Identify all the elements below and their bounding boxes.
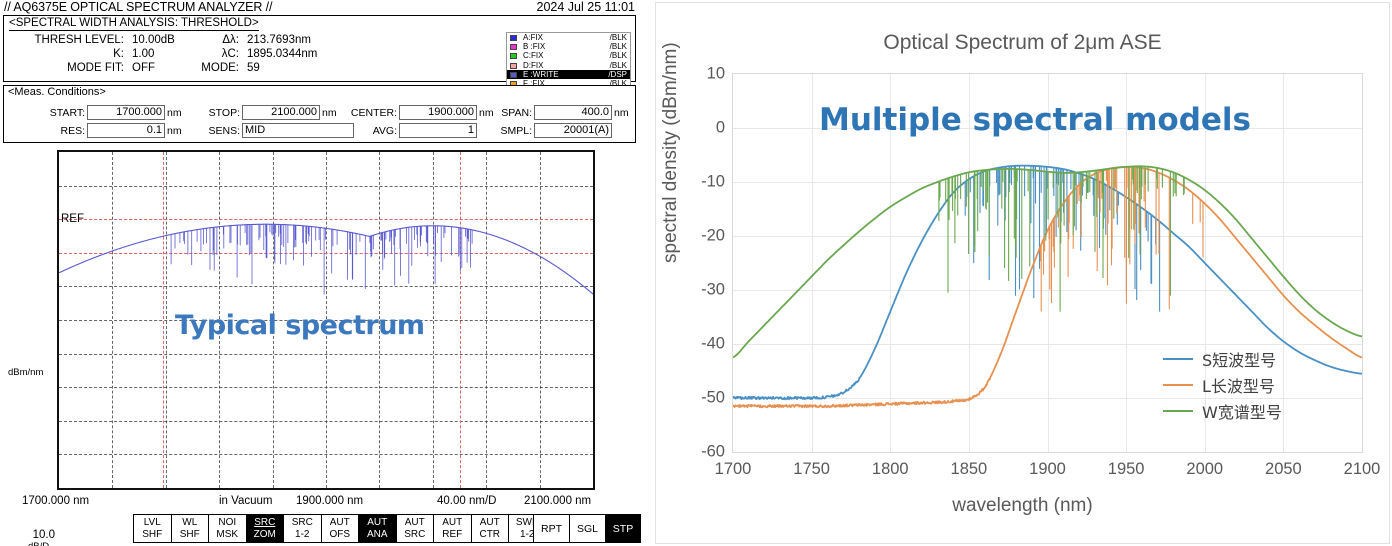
softkey-line2: SHF bbox=[180, 529, 200, 541]
x-vacuum-label: in Vacuum bbox=[219, 495, 272, 507]
softkey-line2: ZOM bbox=[254, 529, 276, 541]
meas-field-label: CENTER: bbox=[334, 107, 397, 119]
chart-legend-label: W宽谱型号 bbox=[1202, 399, 1282, 423]
trace-mode-label: /BLK bbox=[610, 42, 627, 51]
chart-legend-label: S短波型号 bbox=[1202, 347, 1276, 371]
trace-name-label: C:FIX bbox=[523, 51, 543, 60]
trace-color-swatch bbox=[510, 72, 517, 78]
trace-mode-label: /BLK bbox=[610, 61, 627, 70]
meas-field-value[interactable]: 1 bbox=[399, 123, 477, 138]
chart-legend-item[interactable]: W宽谱型号 bbox=[1163, 398, 1282, 424]
softkey-line1: SRC bbox=[292, 517, 313, 529]
chart-legend-swatch bbox=[1163, 358, 1193, 360]
sweep-key-rpt[interactable]: RPT bbox=[533, 514, 569, 543]
softkey-line1: AUT bbox=[442, 517, 462, 529]
chart-series-absorption-dips bbox=[1041, 167, 1203, 312]
chart-y-tick-label: -50 bbox=[701, 389, 725, 408]
sweep-control-bar[interactable]: RPTSGLSTP bbox=[533, 514, 641, 543]
softkey-line2: ANA bbox=[367, 529, 388, 541]
chart-legend-swatch bbox=[1163, 410, 1193, 412]
chart-x-tick-label: 2050 bbox=[1265, 460, 1302, 479]
softkey-line1: AUT bbox=[330, 517, 350, 529]
meas-field-label: RES: bbox=[29, 125, 85, 137]
softkey-line2: REF bbox=[442, 529, 462, 541]
softkey-line2: OFS bbox=[329, 529, 350, 541]
softkey-button[interactable]: AUTANA bbox=[358, 514, 396, 543]
mode-label: MODE: bbox=[164, 62, 239, 74]
chart-y-axis-title: spectral density (dBm/nm) bbox=[660, 42, 682, 263]
thresh-level-label: THRESH LEVEL: bbox=[14, 34, 124, 46]
x-start-label: 1700.000 nm bbox=[22, 495, 89, 507]
softkey-button[interactable]: AUTREF bbox=[433, 514, 471, 543]
meas-field-unit: nm bbox=[167, 125, 182, 137]
meas-field-value[interactable]: 2100.000 bbox=[242, 105, 320, 120]
mode-value: 59 bbox=[247, 62, 260, 74]
trace-name-label: D:FIX bbox=[523, 61, 543, 70]
meas-field-label: AVG: bbox=[334, 125, 397, 137]
chart-plot-area[interactable]: Multiple spectral models S短波型号L长波型号W宽谱型号… bbox=[732, 73, 1363, 453]
softkey-button[interactable]: AUTCTR bbox=[471, 514, 509, 543]
softkey-line2: SRC bbox=[404, 529, 425, 541]
meas-field-label: SENS: bbox=[194, 125, 240, 137]
meas-field-label: START: bbox=[29, 107, 85, 119]
meas-field-value[interactable]: 1900.000 bbox=[399, 105, 477, 120]
osa-graph-area: dBm/nm 10.0 dB/D 20.00.0REF-20.0-40.0-60… bbox=[0, 145, 640, 510]
meas-field-label: SPAN: bbox=[494, 107, 532, 119]
meas-field-unit: nm bbox=[167, 107, 182, 119]
chart-y-tick-label: 10 bbox=[707, 65, 725, 84]
chart-x-tick-label: 2000 bbox=[1186, 460, 1223, 479]
screenshot-root: // AQ6375E OPTICAL SPECTRUM ANALYZER // … bbox=[0, 0, 1392, 546]
softkey-line1: LVL bbox=[144, 517, 161, 529]
chart-x-tick-label: 1750 bbox=[793, 460, 830, 479]
trace-color-swatch bbox=[510, 35, 517, 41]
mode-fit-label: MODE FIT: bbox=[14, 62, 124, 74]
chart-legend[interactable]: S短波型号L长波型号W宽谱型号 bbox=[1163, 346, 1282, 424]
trace-name-label: E :WRITE bbox=[523, 70, 559, 79]
y-div-unit: dB/D bbox=[28, 541, 49, 546]
x-center-label: 1900.000 nm bbox=[296, 495, 363, 507]
analysis-panel-header: <SPECTRAL WIDTH ANALYSIS: THRESHOLD> bbox=[9, 17, 259, 31]
softkey-line1: NOI bbox=[218, 517, 236, 529]
softkey-button[interactable]: AUTOFS bbox=[321, 514, 359, 543]
y-axis-unit: dBm/nm bbox=[8, 367, 43, 378]
trace-color-swatch bbox=[510, 53, 517, 59]
typical-spectrum-overlay: Typical spectrum bbox=[175, 310, 425, 341]
delta-lambda-value: 213.7693nm bbox=[247, 34, 311, 46]
meas-field-label: STOP: bbox=[194, 107, 240, 119]
softkey-line1: AUT bbox=[405, 517, 425, 529]
osa-screen: // AQ6375E OPTICAL SPECTRUM ANALYZER // … bbox=[0, 0, 640, 546]
x-div-label: 40.00 nm/D bbox=[437, 495, 496, 507]
osa-window-title: // AQ6375E OPTICAL SPECTRUM ANALYZER // bbox=[4, 0, 272, 14]
meas-field-value[interactable]: 0.1 bbox=[87, 123, 165, 138]
trace-mode-label: /BLK bbox=[610, 51, 627, 60]
multiple-spectral-models-overlay: Multiple spectral models bbox=[819, 102, 1251, 138]
trace-name-label: A:FIX bbox=[523, 33, 543, 42]
chart-y-tick-label: -40 bbox=[701, 335, 725, 354]
softkey-button[interactable]: WLSHF bbox=[171, 514, 209, 543]
softkey-line2: MSK bbox=[216, 529, 238, 541]
trace-name-label: B :FIX bbox=[523, 42, 545, 51]
chart-y-tick-label: -10 bbox=[701, 173, 725, 192]
spectrum-chart-panel: Optical Spectrum of 2μm ASE spectral den… bbox=[655, 2, 1390, 544]
meas-conditions-header: <Meas. Conditions> bbox=[8, 86, 106, 98]
delta-lambda-label: Δλ: bbox=[164, 34, 239, 46]
chart-y-tick-label: -30 bbox=[701, 281, 725, 300]
softkey-line1: WL bbox=[182, 517, 197, 529]
trace-row[interactable]: C:FIX/BLK bbox=[507, 51, 630, 60]
softkey-line2: SHF bbox=[142, 529, 162, 541]
meas-field-unit: nm bbox=[479, 107, 494, 119]
measurement-conditions-panel: <Meas. Conditions> START:1700.000nmSTOP:… bbox=[3, 85, 636, 143]
chart-x-tick-label: 1700 bbox=[715, 460, 752, 479]
chart-x-axis-title: wavelength (nm) bbox=[656, 495, 1389, 517]
softkey-button[interactable]: SRCZOM bbox=[246, 514, 284, 543]
lambda-c-label: λC: bbox=[164, 48, 239, 60]
softkey-bar[interactable]: LVLSHFWLSHFNOIMSKSRCZOMSRC1-2AUTOFSAUTAN… bbox=[133, 514, 583, 543]
k-value: 1.00 bbox=[132, 48, 154, 60]
softkey-line2: CTR bbox=[479, 529, 500, 541]
chart-y-tick-label: -60 bbox=[701, 443, 725, 462]
sweep-key-stp[interactable]: STP bbox=[605, 514, 641, 543]
chart-y-tick-label: -20 bbox=[701, 227, 725, 246]
chart-y-tick-label: 0 bbox=[716, 119, 725, 138]
sweep-key-sgl[interactable]: SGL bbox=[569, 514, 605, 543]
chart-legend-label: L长波型号 bbox=[1202, 373, 1275, 397]
meas-field-value[interactable]: 1700.000 bbox=[87, 105, 165, 120]
chart-x-tick-label: 2100 bbox=[1344, 460, 1381, 479]
trace-color-swatch bbox=[510, 44, 517, 50]
trace-row[interactable]: E :WRITE/DSP bbox=[507, 70, 630, 79]
chart-title: Optical Spectrum of 2μm ASE bbox=[656, 31, 1389, 55]
spectral-width-analysis-panel: <SPECTRAL WIDTH ANALYSIS: THRESHOLD> THR… bbox=[3, 15, 636, 82]
trace-row[interactable]: B :FIX/BLK bbox=[507, 42, 630, 51]
k-label: K: bbox=[14, 48, 124, 60]
meas-field-unit: nm bbox=[614, 107, 629, 119]
meas-field-label: SMPL: bbox=[494, 125, 532, 137]
chart-legend-item[interactable]: L长波型号 bbox=[1163, 372, 1282, 398]
meas-field-value[interactable]: 400.0 bbox=[534, 105, 612, 120]
lambda-c-value: 1895.0344nm bbox=[247, 48, 317, 60]
softkey-line1: AUT bbox=[480, 517, 500, 529]
softkey-line1: SRC bbox=[254, 517, 275, 529]
trace-color-swatch bbox=[510, 63, 517, 69]
chart-x-tick-label: 1850 bbox=[951, 460, 988, 479]
softkey-button[interactable]: LVLSHF bbox=[133, 514, 171, 543]
trace-row[interactable]: D:FIX/BLK bbox=[507, 61, 630, 70]
softkey-line2: 1-2 bbox=[295, 529, 309, 541]
osa-datetime: 2024 Jul 25 11:01 bbox=[537, 0, 635, 14]
mode-fit-value: OFF bbox=[132, 62, 155, 74]
softkey-button[interactable]: NOIMSK bbox=[208, 514, 246, 543]
trace-mode-label: /BLK bbox=[610, 33, 627, 42]
chart-legend-swatch bbox=[1163, 384, 1193, 386]
chart-legend-item[interactable]: S短波型号 bbox=[1163, 346, 1282, 372]
chart-x-tick-label: 1800 bbox=[872, 460, 909, 479]
x-stop-label: 2100.000 nm bbox=[524, 495, 591, 507]
meas-field-value[interactable]: 20001(A) bbox=[534, 123, 612, 138]
chart-series-absorption-dips bbox=[965, 166, 1159, 312]
softkey-button[interactable]: AUTSRC bbox=[396, 514, 434, 543]
softkey-button[interactable]: SRC1-2 bbox=[283, 514, 321, 543]
softkey-line1: AUT bbox=[367, 517, 387, 529]
chart-x-tick-label: 1900 bbox=[1029, 460, 1066, 479]
y-div-value: 10.0 bbox=[25, 529, 55, 541]
trace-mode-label: /DSP bbox=[608, 70, 627, 79]
chart-x-tick-label: 1950 bbox=[1108, 460, 1145, 479]
trace-row[interactable]: A:FIX/BLK bbox=[507, 33, 630, 42]
